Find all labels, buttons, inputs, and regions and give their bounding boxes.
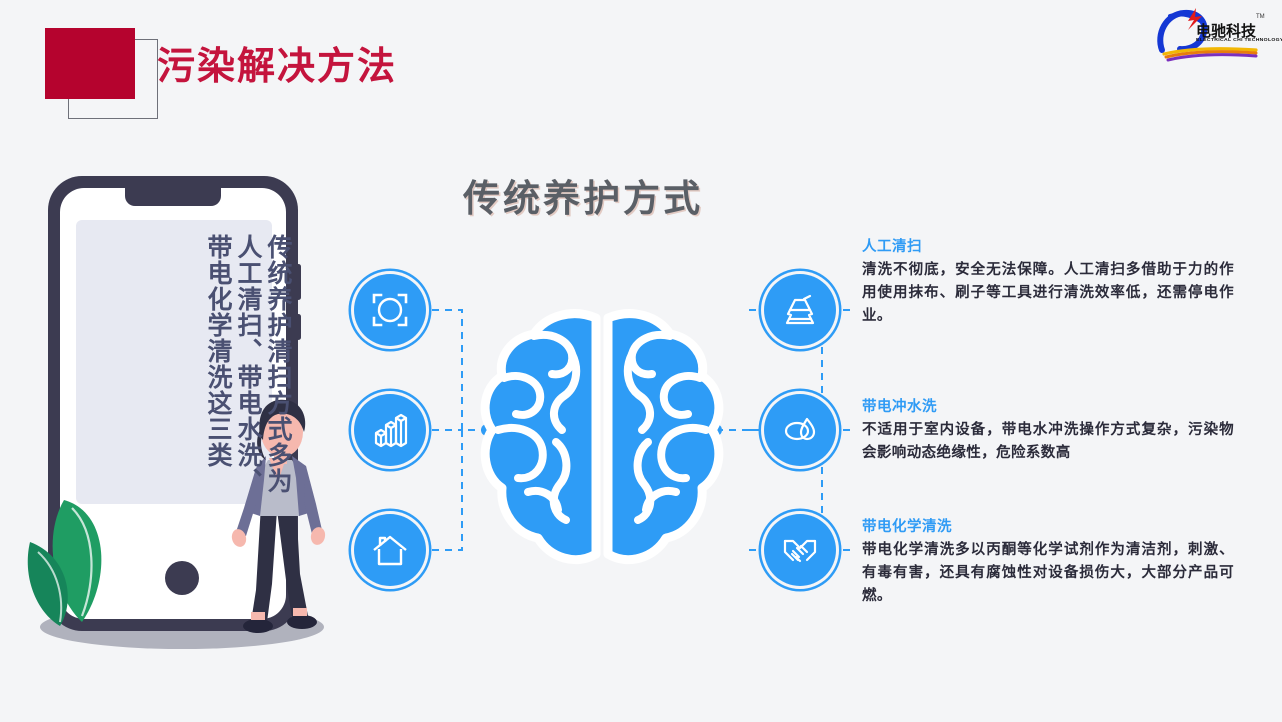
water-spray-icon[interactable] [764,394,836,466]
handshake-icon[interactable] [764,514,836,586]
focus-frame-icon[interactable] [354,274,426,346]
info-heading: 带电化学清洗 [862,518,1234,536]
logo-name-en: ELECTRICAL CHI TECHNOLOGY [1196,37,1282,42]
info-block-manual-cleaning: 人工清扫 清洗不彻底，安全无法保障。人工清扫多借助于力的作用使用抹布、刷子等工具… [862,238,1234,328]
page-title: 污染解决方法 [157,36,397,98]
info-heading: 带电冲水洗 [862,398,1234,416]
brand-logo: 电驰科技 ELECTRICAL CHI TECHNOLOGY TM [1152,4,1270,64]
bar-chart-icon[interactable] [354,394,426,466]
section-heading: 传统养护方式 [463,168,703,222]
title-red-block [45,28,135,99]
slide-canvas: 污染解决方法 电驰科技 ELECTRICAL CHI TECHNOLOGY TM… [0,0,1282,722]
logo-trademark: TM [1256,14,1265,20]
info-body: 不适用于室内设备，带电水冲洗操作方式复杂，污染物会影响动态绝缘性，危险系数高 [862,419,1234,465]
info-heading: 人工清扫 [862,238,1234,256]
brain-icon [468,296,736,580]
phone-text-line-1: 传统养护清扫方式多为 [265,234,290,594]
info-block-live-chemical-cleaning: 带电化学清洗 带电化学清洗多以丙酮等化学试剂作为清洁剂，刺激、有毒有害，还具有腐… [862,518,1234,608]
phone-vertical-text: 传统养护清扫方式多为 人工清扫、带电水洗、 带电化学清洗这三类 [100,234,290,594]
house-icon[interactable] [354,514,426,586]
phone-text-line-3: 带电化学清洗这三类 [205,234,230,594]
brush-icon[interactable] [764,274,836,346]
info-body: 清洗不彻底，安全无法保障。人工清扫多借助于力的作用使用抹布、刷子等工具进行清洗效… [862,259,1234,328]
info-block-live-water-wash: 带电冲水洗 不适用于室内设备，带电水冲洗操作方式复杂，污染物会影响动态绝缘性，危… [862,398,1234,465]
info-body: 带电化学清洗多以丙酮等化学试剂作为清洁剂，刺激、有毒有害，还具有腐蚀性对设备损伤… [862,539,1234,608]
header-title-group: 污染解决方法 [45,28,465,108]
phone-text-line-2: 人工清扫、带电水洗、 [235,234,260,594]
